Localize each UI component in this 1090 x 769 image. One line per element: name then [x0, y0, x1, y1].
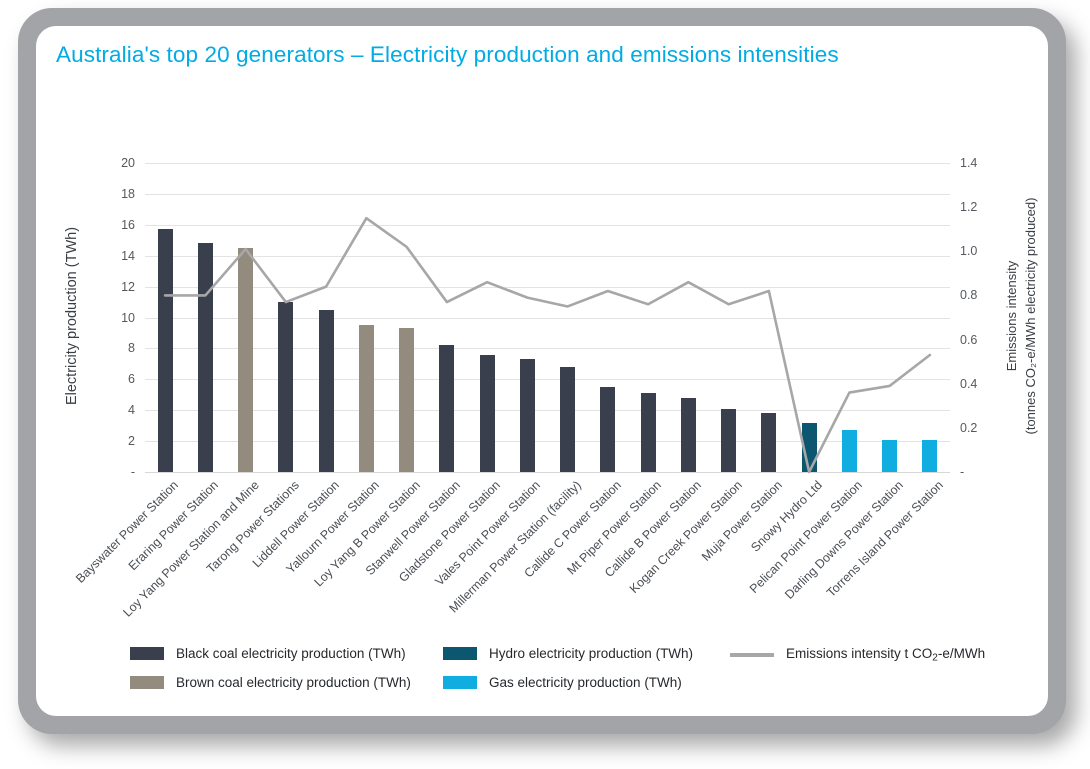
- y-axis-right-tick: 1.2: [960, 200, 994, 214]
- legend-swatch-gas: [443, 676, 477, 689]
- emissions-line-layer: [145, 163, 950, 472]
- y-axis-left-tick: 8: [105, 341, 135, 355]
- y-axis-left-tick: 14: [105, 249, 135, 263]
- y-axis-left-tick: 12: [105, 280, 135, 294]
- page-title: Australia's top 20 generators – Electric…: [56, 42, 839, 68]
- legend-label: Hydro electricity production (TWh): [489, 646, 693, 661]
- legend-item[interactable]: Brown coal electricity production (TWh): [130, 675, 411, 690]
- screenshot-root: Australia's top 20 generators – Electric…: [0, 0, 1090, 769]
- y-axis-left-tick: 10: [105, 311, 135, 325]
- gridline: [145, 472, 950, 473]
- y-axis-left-tick: 2: [105, 434, 135, 448]
- y-axis-left-tick: 16: [105, 218, 135, 232]
- legend-label: Black coal electricity production (TWh): [176, 646, 406, 661]
- y-axis-left-tick: -: [105, 465, 135, 479]
- legend-swatch-hydro: [443, 647, 477, 660]
- emissions-intensity-line: [165, 218, 930, 472]
- y-axis-right-tick: 0.2: [960, 421, 994, 435]
- legend-item[interactable]: Hydro electricity production (TWh): [443, 646, 693, 661]
- legend-item[interactable]: Gas electricity production (TWh): [443, 675, 682, 690]
- y-axis-left-tick: 20: [105, 156, 135, 170]
- y-axis-right-tick: -: [960, 465, 994, 479]
- y-axis-left-tick: 4: [105, 403, 135, 417]
- y-axis-title-left: Electricity production (TWh): [64, 227, 80, 405]
- legend-label: Emissions intensity t CO2-e/MWh: [786, 646, 985, 663]
- emissions-line-svg: [145, 163, 950, 472]
- legend-label: Brown coal electricity production (TWh): [176, 675, 411, 690]
- plot-area: [145, 163, 950, 472]
- y-axis-title-right-line2: (tonnes CO₂-e/MWh electricity produced): [1022, 198, 1041, 435]
- y-axis-title-right-line1: Emissions intensity: [1004, 261, 1019, 372]
- legend-item[interactable]: Emissions intensity t CO2-e/MWh: [730, 646, 985, 663]
- legend-item[interactable]: Black coal electricity production (TWh): [130, 646, 406, 661]
- y-axis-left-tick: 6: [105, 372, 135, 386]
- y-axis-left-tick: 18: [105, 187, 135, 201]
- y-axis-right-tick: 1.0: [960, 244, 994, 258]
- y-axis-title-right: Emissions intensity (tonnes CO₂-e/MWh el…: [1003, 198, 1041, 435]
- y-axis-right-tick: 0.4: [960, 377, 994, 391]
- legend-swatch-black: [130, 647, 164, 660]
- y-axis-right-tick: 0.6: [960, 333, 994, 347]
- y-axis-right-tick: 0.8: [960, 288, 994, 302]
- legend-swatch-brown: [130, 676, 164, 689]
- legend-label: Gas electricity production (TWh): [489, 675, 682, 690]
- y-axis-right-tick: 1.4: [960, 156, 994, 170]
- legend-swatch-line: [730, 653, 774, 657]
